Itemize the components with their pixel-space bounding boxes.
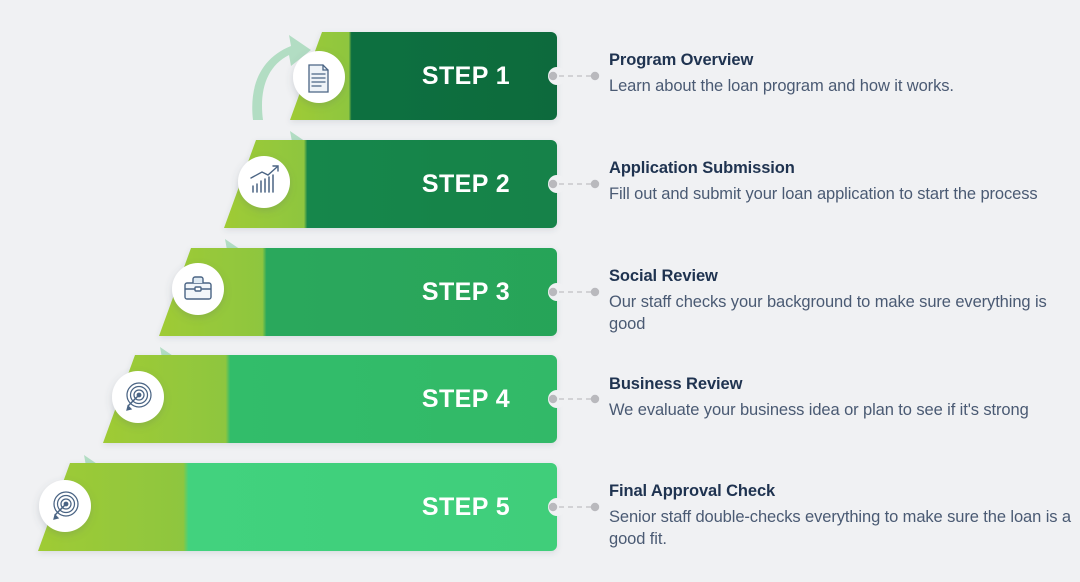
document-icon [309, 65, 328, 92]
step-description-5: Final Approval Check Senior staff double… [609, 481, 1071, 551]
process-steps-infographic: STEP 1 STEP 2 STEP 3 STEP 4 STEP 5 Progr… [0, 0, 1080, 582]
step-description-2: Application Submission Fill out and subm… [609, 158, 1071, 205]
step-body: Fill out and submit your loan applicatio… [609, 183, 1071, 206]
step-icon-badge-5[interactable] [39, 480, 91, 532]
step-description-1: Program Overview Learn about the loan pr… [609, 50, 1071, 97]
step-body: Learn about the loan program and how it … [609, 75, 1071, 98]
step-label-4: STEP 4 [330, 385, 510, 414]
step-label-5: STEP 5 [330, 493, 510, 522]
step-label-3: STEP 3 [330, 278, 510, 307]
step-description-4: Business Review We evaluate your busines… [609, 374, 1071, 421]
step-body: Our staff checks your background to make… [609, 291, 1071, 337]
step-icon-badge-4[interactable] [112, 371, 164, 423]
step-body: Senior staff double-checks everything to… [609, 506, 1071, 552]
step-label-1: STEP 1 [330, 62, 510, 91]
step-title: Final Approval Check [609, 481, 1071, 502]
step-title: Business Review [609, 374, 1071, 395]
step-icon-badge-3[interactable] [172, 263, 224, 315]
step-title: Program Overview [609, 50, 1071, 71]
step-title: Application Submission [609, 158, 1071, 179]
step-title: Social Review [609, 266, 1071, 287]
step-body: We evaluate your business idea or plan t… [609, 399, 1071, 422]
step-description-3: Social Review Our staff checks your back… [609, 266, 1071, 336]
connectors-group [549, 72, 599, 511]
step-icon-badge-2[interactable] [238, 156, 290, 208]
step-label-2: STEP 2 [330, 170, 510, 199]
